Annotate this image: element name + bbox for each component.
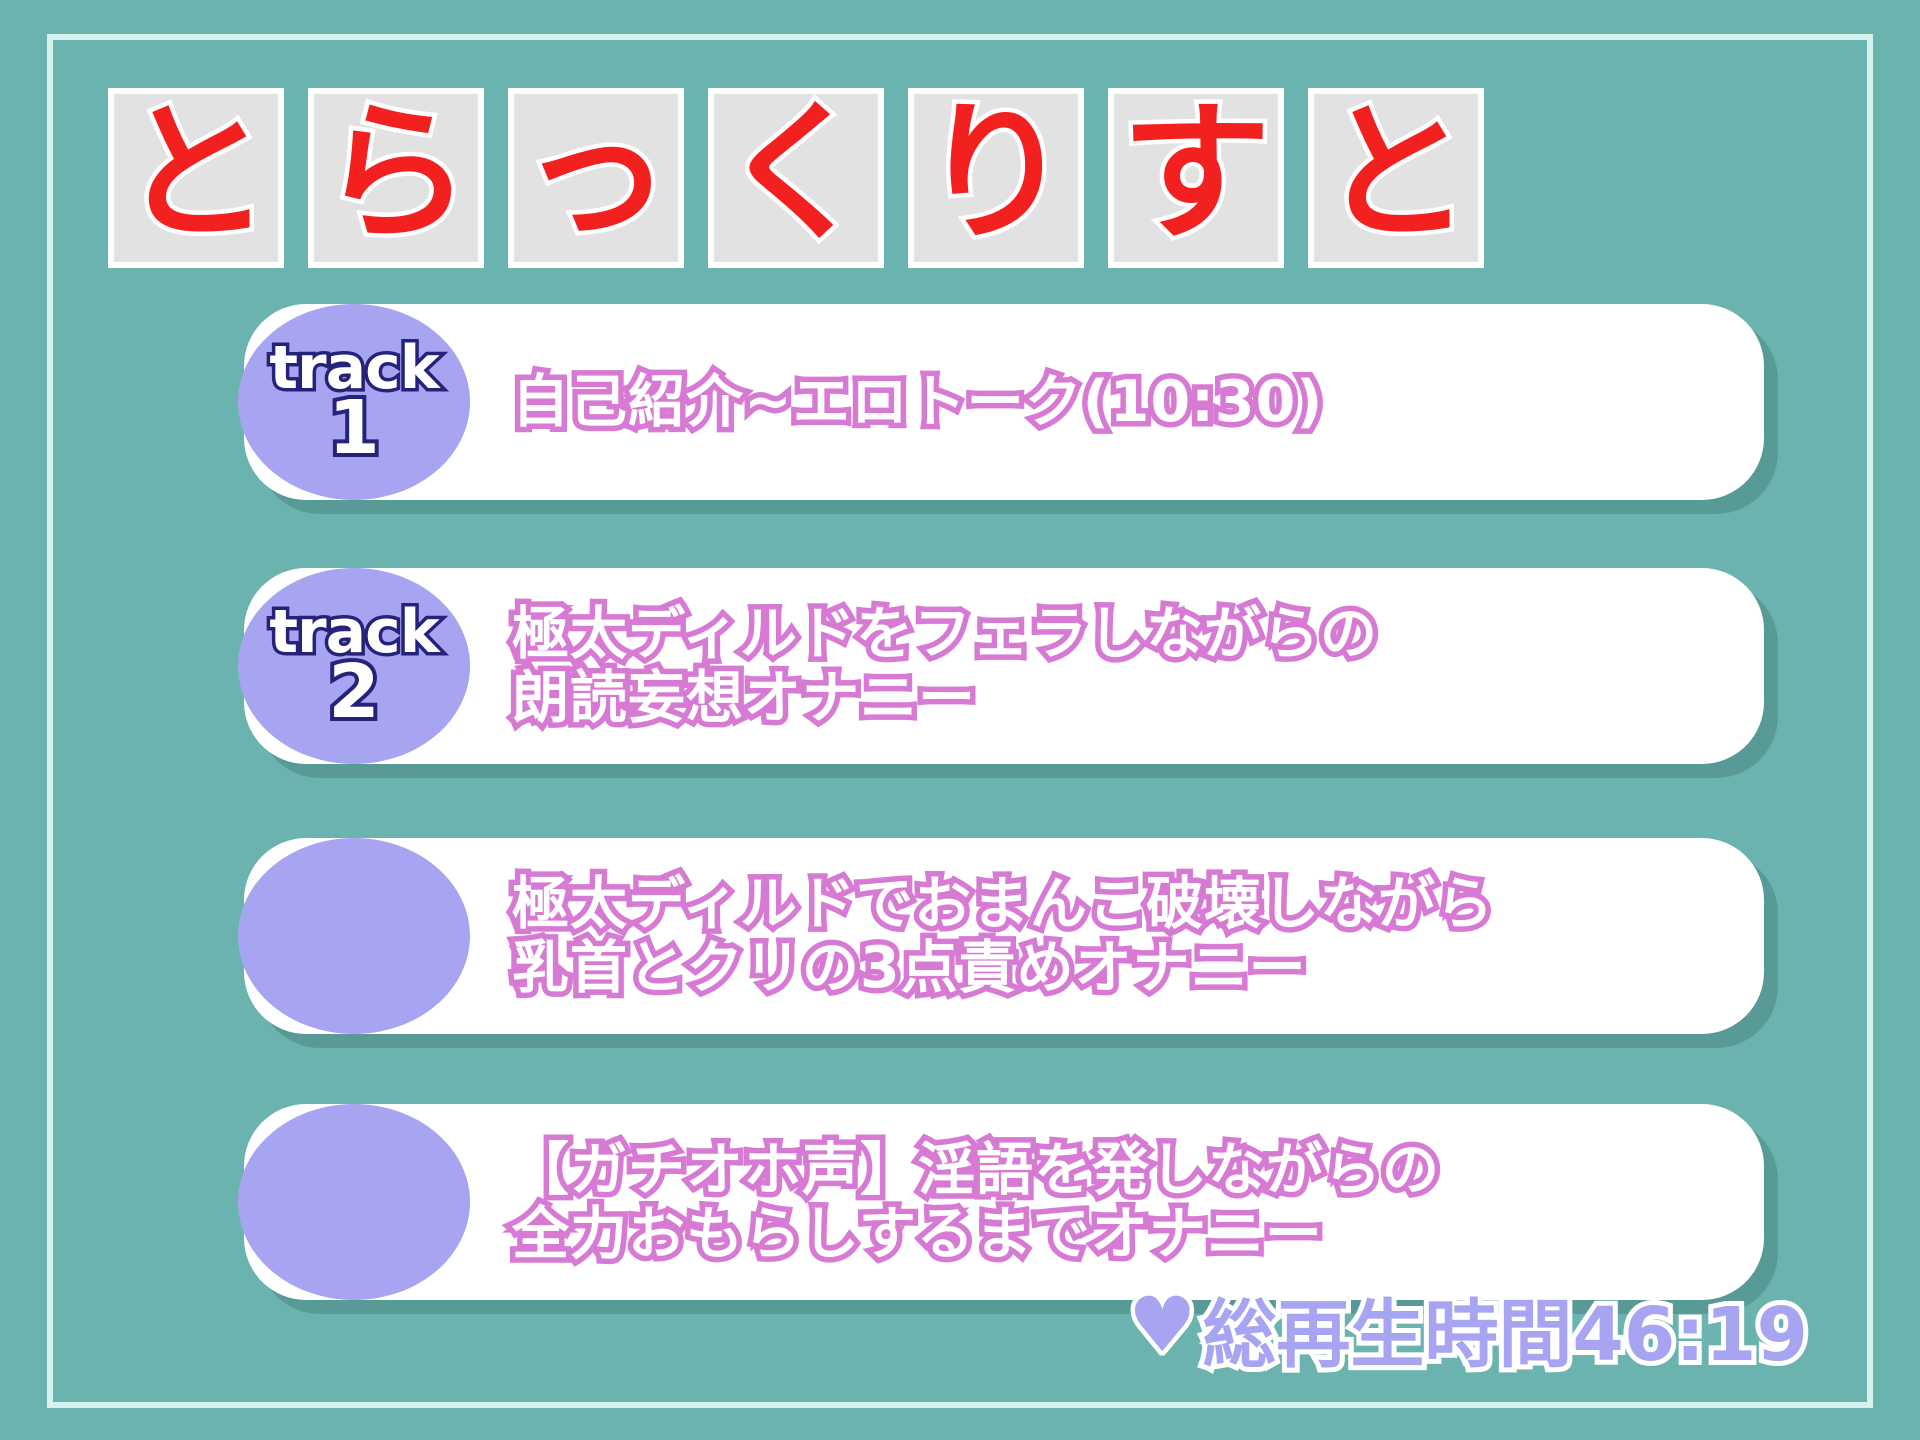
title-char: ら: [321, 99, 471, 249]
title-tile: と: [108, 88, 284, 268]
track-badge: track 2: [238, 568, 470, 764]
heart-icon: ♥: [1128, 1287, 1196, 1363]
track-label: 自己紹介~エロトーク(10:30): [512, 370, 1323, 434]
title-char: り: [921, 99, 1071, 249]
title-char: と: [121, 99, 271, 249]
title-tile: り: [908, 88, 1084, 268]
title-char: っ: [521, 99, 671, 249]
track-badge: [238, 838, 470, 1034]
track-row[interactable]: 【ガチオホ声】淫語を発しながらの 全力おもらしするまでオナニー: [244, 1104, 1764, 1300]
title-tile: く: [708, 88, 884, 268]
track-badge-number: 1: [328, 397, 380, 461]
total-playtime: ♥ 総再生時間46:19: [1128, 1275, 1808, 1382]
title-char: す: [1121, 99, 1271, 249]
track-label: 極太ディルドをフェラしながらの 朗読妄想オナニー: [512, 602, 1378, 731]
title-tile: ら: [308, 88, 484, 268]
title-tile: す: [1108, 88, 1284, 268]
title-char: と: [1321, 99, 1471, 249]
title-char: く: [721, 99, 871, 249]
track-row[interactable]: 極太ディルドでおまんこ破壊しながら 乳首とクリの3点責めオナニー: [244, 838, 1764, 1034]
page-title: と ら っ く り す と: [108, 88, 1484, 268]
track-row[interactable]: track 2 極太ディルドをフェラしながらの 朗読妄想オナニー: [244, 568, 1764, 764]
track-badge: track 1: [238, 304, 470, 500]
title-tile: っ: [508, 88, 684, 268]
track-badge: [238, 1104, 470, 1300]
track-label: 極太ディルドでおまんこ破壊しながら 乳首とクリの3点責めオナニー: [512, 872, 1494, 1001]
total-playtime-label: 総再生時間46:19: [1202, 1275, 1808, 1382]
track-badge-number: 2: [328, 661, 380, 725]
track-row[interactable]: track 1 自己紹介~エロトーク(10:30): [244, 304, 1764, 500]
poster-frame: と ら っ く り す と track 1 自己紹介~エロトーク(10:30) …: [0, 0, 1920, 1440]
track-label: 【ガチオホ声】淫語を発しながらの 全力おもらしするまでオナニー: [512, 1138, 1440, 1267]
title-tile: と: [1308, 88, 1484, 268]
